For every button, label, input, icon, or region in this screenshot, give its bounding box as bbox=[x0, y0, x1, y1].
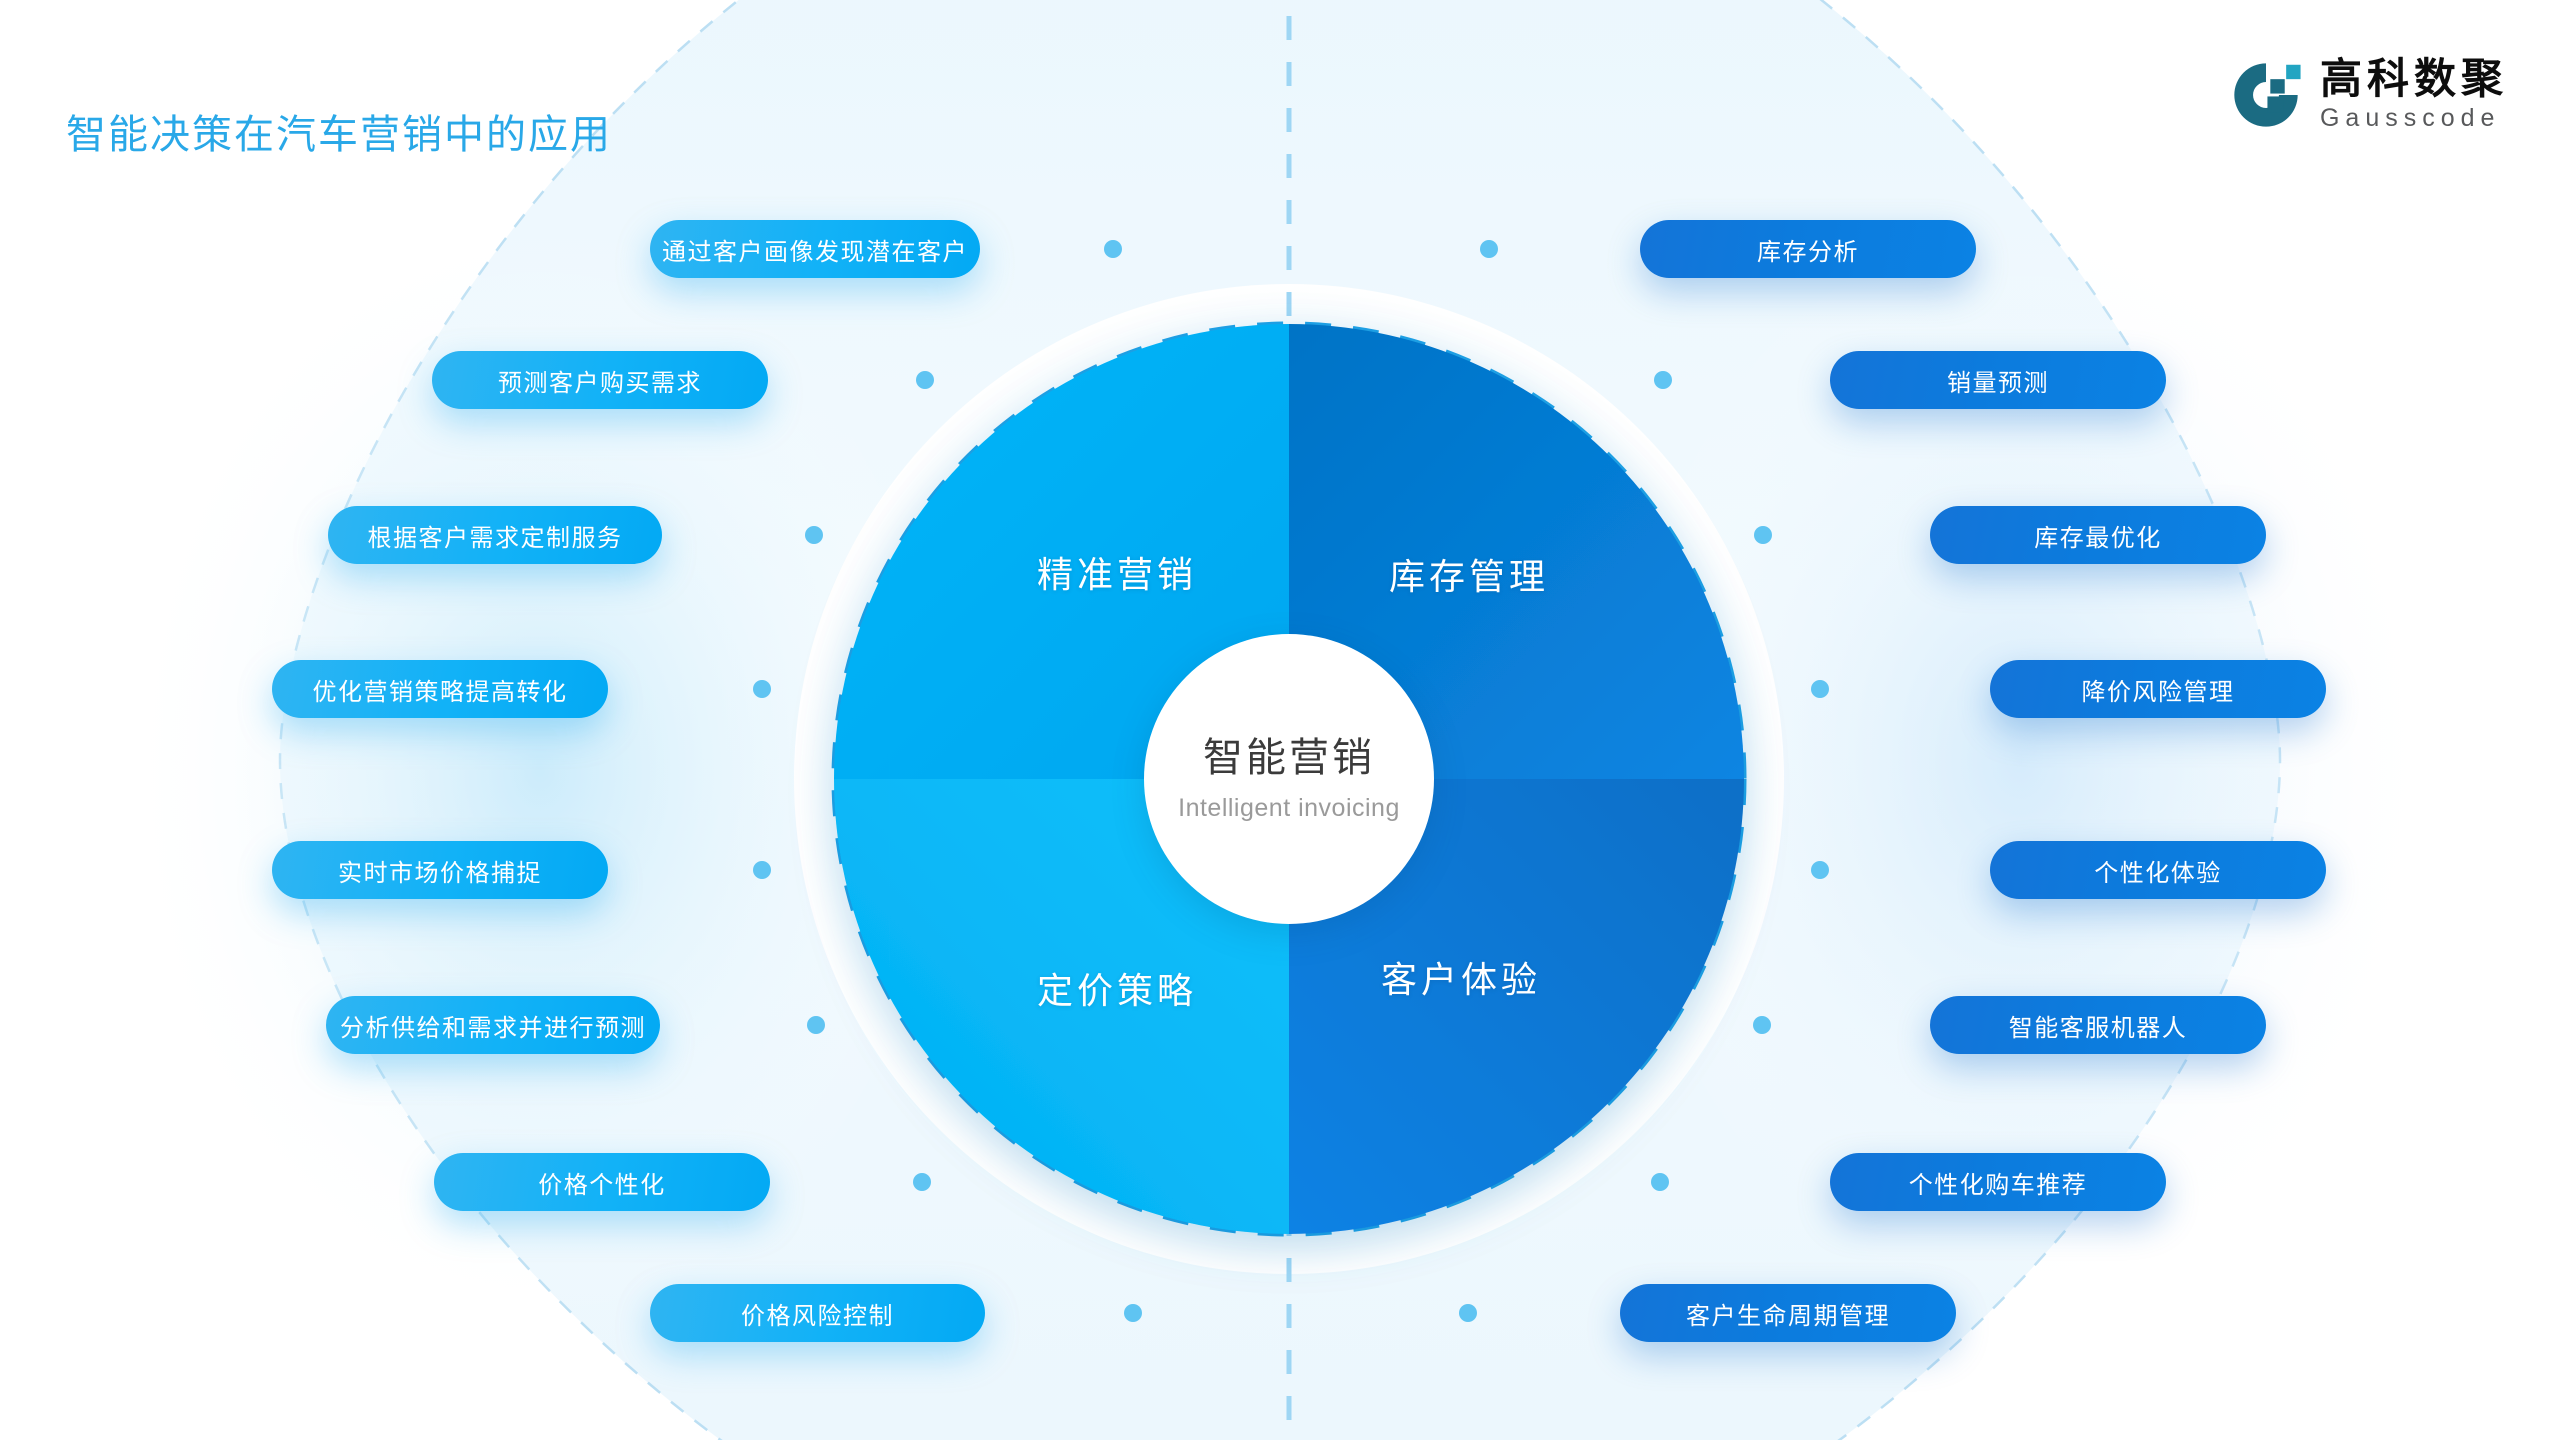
left-pill-6[interactable]: 分析供给和需求并进行预测 bbox=[326, 996, 660, 1054]
right-pill-5[interactable]: 个性化体验 bbox=[1990, 841, 2326, 899]
left-pill-5[interactable]: 实时市场价格捕捉 bbox=[272, 841, 608, 899]
left-pill-1[interactable]: 通过客户画像发现潜在客户 bbox=[650, 220, 980, 278]
brand-logo: 高科数聚 Gausscode bbox=[2230, 58, 2508, 131]
gausscode-logo-icon bbox=[2230, 59, 2302, 131]
center-title-en: Intelligent invoicing bbox=[1178, 796, 1400, 821]
logo-text-cn: 高科数聚 bbox=[2320, 58, 2508, 100]
quadrant-label-top-left: 精准营销 bbox=[1037, 546, 1197, 598]
right-pill-3[interactable]: 库存最优化 bbox=[1930, 506, 2266, 564]
right-pill-4[interactable]: 降价风险管理 bbox=[1990, 660, 2326, 718]
center-hub: 智能营销 Intelligent invoicing bbox=[1144, 634, 1434, 924]
page-title: 智能决策在汽车营销中的应用 bbox=[66, 102, 612, 160]
left-connector-dots bbox=[753, 240, 1142, 1322]
quadrant-label-bottom-left: 定价策略 bbox=[1037, 962, 1197, 1014]
left-pill-8[interactable]: 价格风险控制 bbox=[650, 1284, 985, 1342]
quadrant-label-bottom-right: 客户体验 bbox=[1381, 951, 1541, 1003]
right-pill-2[interactable]: 销量预测 bbox=[1830, 351, 2166, 409]
left-pill-2[interactable]: 预测客户购买需求 bbox=[432, 351, 768, 409]
left-pill-7[interactable]: 价格个性化 bbox=[434, 1153, 770, 1211]
center-title-cn: 智能营销 bbox=[1203, 738, 1375, 778]
quadrant-label-top-right: 库存管理 bbox=[1389, 548, 1549, 600]
infographic-canvas: 智能决策在汽车营销中的应用 高科数聚 Gausscode 精准营销 库存管理 定… bbox=[0, 0, 2560, 1440]
right-connector-dots bbox=[1459, 240, 1829, 1322]
logo-text-en: Gausscode bbox=[2320, 106, 2508, 131]
right-pill-7[interactable]: 个性化购车推荐 bbox=[1830, 1153, 2166, 1211]
right-pill-1[interactable]: 库存分析 bbox=[1640, 220, 1976, 278]
left-pill-3[interactable]: 根据客户需求定制服务 bbox=[328, 506, 662, 564]
left-pill-4[interactable]: 优化营销策略提高转化 bbox=[272, 660, 608, 718]
right-pill-8[interactable]: 客户生命周期管理 bbox=[1620, 1284, 1956, 1342]
right-pill-6[interactable]: 智能客服机器人 bbox=[1930, 996, 2266, 1054]
